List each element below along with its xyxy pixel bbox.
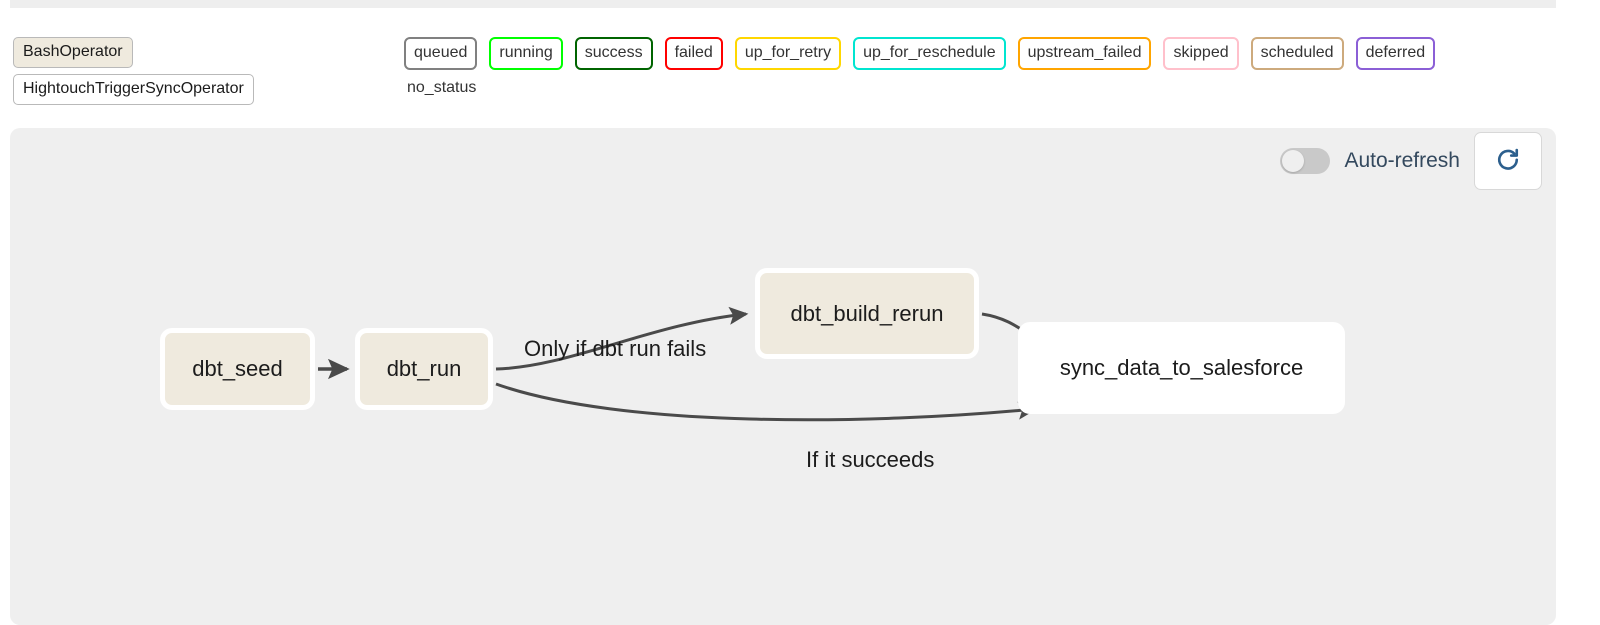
status-badge-queued[interactable]: queued bbox=[404, 37, 477, 70]
refresh-button[interactable] bbox=[1474, 132, 1542, 190]
no-status-label: no_status bbox=[404, 79, 1435, 97]
edge-label-only-if-dbt-run-fails: Only if dbt run fails bbox=[524, 336, 706, 362]
status-badge-failed[interactable]: failed bbox=[665, 37, 723, 70]
status-badge-up-for-retry[interactable]: up_for_retry bbox=[735, 37, 841, 70]
operator-legend-hightouchtriggersyncoperator[interactable]: HightouchTriggerSyncOperator bbox=[13, 74, 254, 105]
operator-legend: BashOperator HightouchTriggerSyncOperato… bbox=[13, 37, 254, 105]
graph-node-sync-data-to-salesforce[interactable]: sync_data_to_salesforce bbox=[1018, 322, 1345, 414]
auto-refresh-label: Auto-refresh bbox=[1344, 149, 1460, 173]
status-legend: queued running success failed up_for_ret… bbox=[404, 37, 1435, 97]
dag-graph-page: BashOperator HightouchTriggerSyncOperato… bbox=[0, 0, 1600, 625]
graph-controls: Auto-refresh bbox=[1280, 132, 1542, 190]
auto-refresh-toggle-knob bbox=[1282, 150, 1304, 172]
status-badge-up-for-reschedule[interactable]: up_for_reschedule bbox=[853, 37, 1006, 70]
legend-area: BashOperator HightouchTriggerSyncOperato… bbox=[0, 26, 1600, 106]
auto-refresh-toggle[interactable] bbox=[1280, 148, 1330, 174]
operator-legend-bashoperator[interactable]: BashOperator bbox=[13, 37, 133, 68]
top-strip bbox=[10, 0, 1556, 8]
status-badge-skipped[interactable]: skipped bbox=[1163, 37, 1238, 70]
refresh-icon bbox=[1493, 146, 1523, 176]
status-badge-success[interactable]: success bbox=[575, 37, 653, 70]
status-legend-row: queued running success failed up_for_ret… bbox=[404, 37, 1435, 70]
status-badge-upstream-failed[interactable]: upstream_failed bbox=[1018, 37, 1152, 70]
graph-node-dbt-build-rerun[interactable]: dbt_build_rerun bbox=[755, 268, 979, 359]
graph-node-dbt-run[interactable]: dbt_run bbox=[355, 328, 493, 410]
status-badge-running[interactable]: running bbox=[489, 37, 562, 70]
graph-canvas[interactable]: Auto-refresh dbt_seed bbox=[10, 128, 1556, 625]
graph-node-dbt-seed[interactable]: dbt_seed bbox=[160, 328, 315, 410]
status-badge-deferred[interactable]: deferred bbox=[1356, 37, 1436, 70]
status-badge-scheduled[interactable]: scheduled bbox=[1251, 37, 1344, 70]
edge-label-if-it-succeeds: If it succeeds bbox=[806, 447, 934, 473]
